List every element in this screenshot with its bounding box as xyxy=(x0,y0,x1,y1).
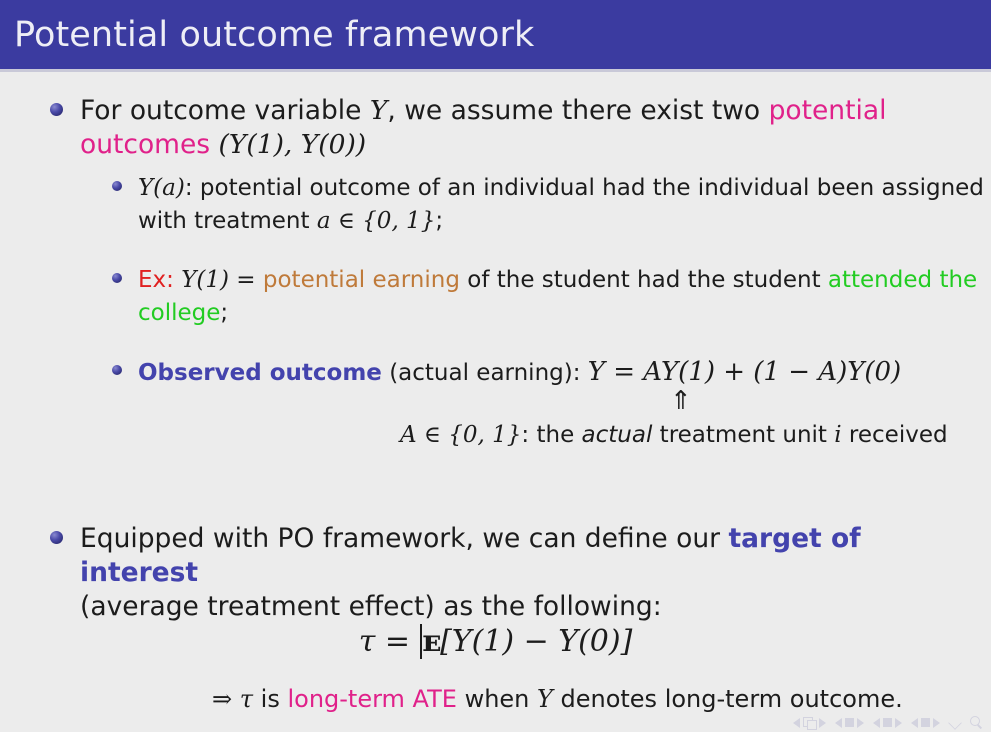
beamer-navigation-bar[interactable] xyxy=(793,716,983,729)
bullet1-text-2: , we assume there exist two xyxy=(387,95,768,126)
next-frame-icon[interactable] xyxy=(857,718,864,728)
highlight-long-term-ate: long-term ATE xyxy=(287,685,456,713)
ate-equation: τ = ᴇ[Y(1) − Y(0)] xyxy=(0,624,991,659)
next-slide-icon[interactable] xyxy=(819,718,826,728)
bullet1-math-Y: Y xyxy=(370,95,388,126)
note-text-3: received xyxy=(842,422,948,448)
conclusion-text-2: when xyxy=(457,685,537,713)
sub1-math-Ya: Y(a) xyxy=(138,175,185,201)
prev-frame-icon[interactable] xyxy=(835,718,842,728)
sub-bullet-text: Ex: Y(1) = potential earning of the stud… xyxy=(138,264,990,330)
frame-icon[interactable] xyxy=(845,718,854,727)
slide-title-bar: Potential outcome framework xyxy=(0,0,991,72)
next-section-icon[interactable] xyxy=(933,718,940,728)
highlight-observed-outcome: Observed outcome xyxy=(138,360,382,386)
bullet2-text-1: Equipped with PO framework, we can defin… xyxy=(80,523,728,554)
equation-body: [Y(1) − Y(0)] xyxy=(440,624,632,659)
conclusion-line: ⇒ τ is long-term ATE when Y denotes long… xyxy=(212,684,903,714)
note-text-1: : the xyxy=(521,422,581,448)
sub3-formula: Y = AY(1) + (1 − A)Y(0) xyxy=(588,357,901,387)
nav-group-frame[interactable] xyxy=(835,718,864,728)
conclusion-text-1: is xyxy=(253,685,287,713)
bullet-marker-icon xyxy=(112,181,122,191)
observed-outcome-note: A ∈ {0, 1}: the actual treatment unit i … xyxy=(400,420,948,450)
back-icon[interactable] xyxy=(948,716,962,730)
note-emph-actual: actual xyxy=(582,422,653,448)
equation-tau: τ xyxy=(359,624,376,659)
conclusion-tau: τ xyxy=(240,685,253,713)
sub-bullet-item-example: Ex: Y(1) = potential earning of the stud… xyxy=(112,264,990,330)
section-icon[interactable] xyxy=(921,718,930,727)
bullet-text: Equipped with PO framework, we can defin… xyxy=(80,522,980,624)
sub2-text-1: of the student had the student xyxy=(460,267,828,293)
nav-group-slide[interactable] xyxy=(793,717,826,729)
bullet-marker-icon xyxy=(50,531,63,544)
sub-bullet-item-Ya-definition: Y(a): potential outcome of an individual… xyxy=(112,172,990,238)
bullet1-math-pair: (Y(1), Y(0)) xyxy=(210,129,366,160)
prev-subsection-icon[interactable] xyxy=(873,718,880,728)
nav-group-section[interactable] xyxy=(911,718,940,728)
sub1-math-set: a ∈ {0, 1} xyxy=(317,208,436,234)
slide-title: Potential outcome framework xyxy=(14,15,534,55)
nav-group-subsection[interactable] xyxy=(873,718,902,728)
note-text-2: treatment unit xyxy=(652,422,834,448)
conclusion-math-Y: Y xyxy=(537,685,553,713)
frame-stack-icon[interactable] xyxy=(803,717,816,729)
conclusion-text-3: denotes long-term outcome. xyxy=(553,685,903,713)
sub-bullet-text: Observed outcome (actual earning): Y = A… xyxy=(138,356,990,390)
bullet-item-target-of-interest: Equipped with PO framework, we can defin… xyxy=(50,522,980,624)
up-arrow-icon: ⇑ xyxy=(670,386,692,416)
equation-expectation-operator: ᴇ xyxy=(420,624,441,659)
note-math-i: i xyxy=(834,422,841,448)
bullet2-text-2: (average treatment effect) as the follow… xyxy=(80,591,662,622)
sub-bullet-text: Y(a): potential outcome of an individual… xyxy=(138,172,990,238)
sub3-text-1: (actual earning): xyxy=(382,360,588,386)
bullet-marker-icon xyxy=(112,273,122,283)
bullet-item-potential-outcomes: For outcome variable Y, we assume there … xyxy=(50,94,980,162)
sub-bullet-item-observed-outcome: Observed outcome (actual earning): Y = A… xyxy=(112,356,990,390)
implies-arrow-icon: ⇒ xyxy=(212,685,240,713)
subsection-icon[interactable] xyxy=(883,718,892,727)
slide-body: For outcome variable Y, we assume there … xyxy=(0,72,991,732)
bullet1-text-1: For outcome variable xyxy=(80,95,370,126)
prev-slide-icon[interactable] xyxy=(793,718,800,728)
sub1-text-2: ; xyxy=(435,208,443,234)
search-icon[interactable] xyxy=(970,716,983,729)
sub1-text-1: : potential outcome of an individual had… xyxy=(138,175,984,234)
presentation-slide: Potential outcome framework For outcome … xyxy=(0,0,991,732)
note-math-A: A ∈ {0, 1} xyxy=(400,422,521,448)
bullet-marker-icon xyxy=(50,103,63,116)
highlight-potential-earning: potential earning xyxy=(263,267,460,293)
equation-equals: = xyxy=(375,624,419,659)
highlight-attended: attended xyxy=(828,267,932,293)
next-subsection-icon[interactable] xyxy=(895,718,902,728)
sub2-math-Y1: Y(1) = xyxy=(174,267,263,293)
bullet-marker-icon xyxy=(112,365,122,375)
prev-section-icon[interactable] xyxy=(911,718,918,728)
bullet-text: For outcome variable Y, we assume there … xyxy=(80,94,980,162)
sub2-text-2: ; xyxy=(220,300,228,326)
label-example: Ex: xyxy=(138,267,174,293)
